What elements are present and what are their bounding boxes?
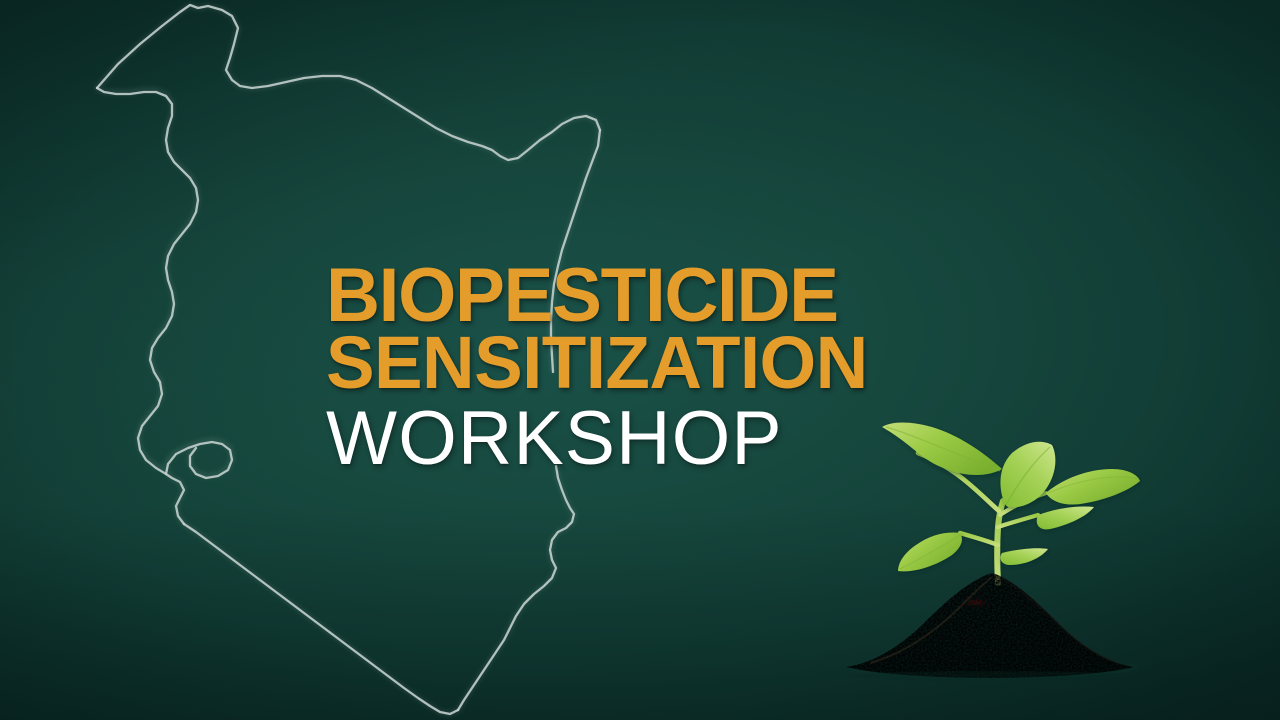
title-line-biopesticide: BIOPESTICIDE [326,262,1075,330]
soil-mound [842,574,1138,682]
kenya-border-south [184,524,458,714]
poster-canvas: BIOPESTICIDE SENSITIZATION WORKSHOP [0,0,1280,720]
poster-headline: BIOPESTICIDE SENSITIZATION WORKSHOP [326,262,1086,478]
kenya-border-north [97,5,600,160]
title-line-workshop: WORKSHOP [326,400,1078,478]
title-line-sensitization: SENSITIZATION [326,330,1075,396]
kenya-coastline [458,466,574,710]
